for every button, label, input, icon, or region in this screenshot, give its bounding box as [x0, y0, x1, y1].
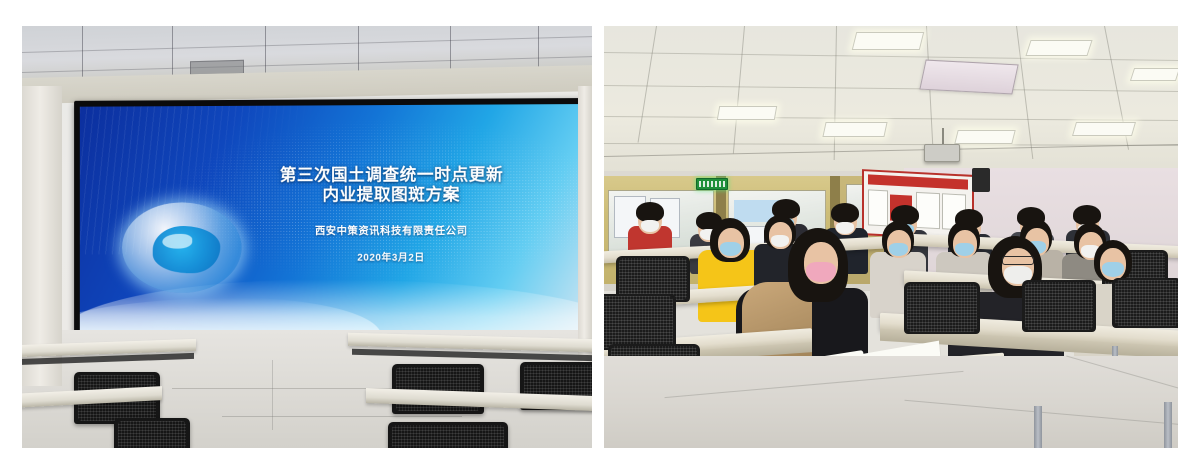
- slide-title-line-2: 内业提取图斑方案: [229, 185, 555, 205]
- office-chair-left-2: [114, 418, 190, 448]
- globe-graphic: [122, 202, 242, 293]
- classroom-chair-2b: [904, 282, 980, 334]
- wall-pillar-left: [22, 86, 62, 386]
- classroom-chair-2d: [1112, 278, 1178, 328]
- photo-meeting-room-led-screen: 第三次国土调查统一时点更新 内业提取图斑方案 西安中策资讯科技有限责任公司 20…: [22, 26, 592, 448]
- wall-speaker: [972, 168, 990, 192]
- ceiling-air-conditioner: [919, 60, 1018, 95]
- ceiling-projector: [924, 144, 960, 162]
- face-mask-pink: [806, 262, 836, 282]
- ceiling-panel-light-1: [852, 32, 924, 50]
- slide-title-line-1: 第三次国土调查统一时点更新: [229, 165, 555, 186]
- led-screen-surface: 第三次国土调查统一时点更新 内业提取图斑方案 西安中策资讯科技有限责任公司 20…: [80, 104, 586, 348]
- ceiling-panel-light-4: [822, 122, 887, 137]
- classroom-chair-2c: [1022, 280, 1096, 332]
- ceiling-panel-light-3: [717, 106, 777, 120]
- ceiling-panel-light-6: [1072, 122, 1136, 136]
- classroom-floor: [604, 356, 1178, 448]
- ceiling-panel-light-5: [954, 130, 1015, 144]
- ceiling-panel-light-2: [1025, 40, 1092, 56]
- office-chair-right-3: [388, 422, 508, 448]
- desk-leg-foreground: [1034, 406, 1042, 448]
- photo-classroom-audience: [604, 26, 1178, 448]
- slide-company-name: 西安中策资讯科技有限责任公司: [229, 223, 555, 238]
- led-display-screen: 第三次国土调查统一时点更新 内业提取图斑方案 西安中策资讯科技有限责任公司 20…: [74, 98, 592, 356]
- presentation-slide: 第三次国土调查统一时点更新 内业提取图斑方案 西安中策资讯科技有限责任公司 20…: [80, 104, 586, 348]
- photo-pair-page: 第三次国土调查统一时点更新 内业提取图斑方案 西安中策资讯科技有限责任公司 20…: [0, 0, 1200, 476]
- desk-leg-foreground-2: [1164, 402, 1172, 448]
- slide-date: 2020年3月2日: [229, 249, 555, 264]
- globe-china-map: [153, 226, 220, 273]
- classroom-drop-ceiling: [604, 26, 1178, 178]
- eyeglasses-icon: [1002, 256, 1034, 265]
- slide-text-block: 第三次国土调查统一时点更新 内业提取图斑方案 西安中策资讯科技有限责任公司 20…: [229, 165, 555, 264]
- classroom-chair-2a: [604, 294, 676, 350]
- ceiling-panel-light-7: [1130, 68, 1178, 81]
- emergency-exit-sign: [696, 178, 728, 190]
